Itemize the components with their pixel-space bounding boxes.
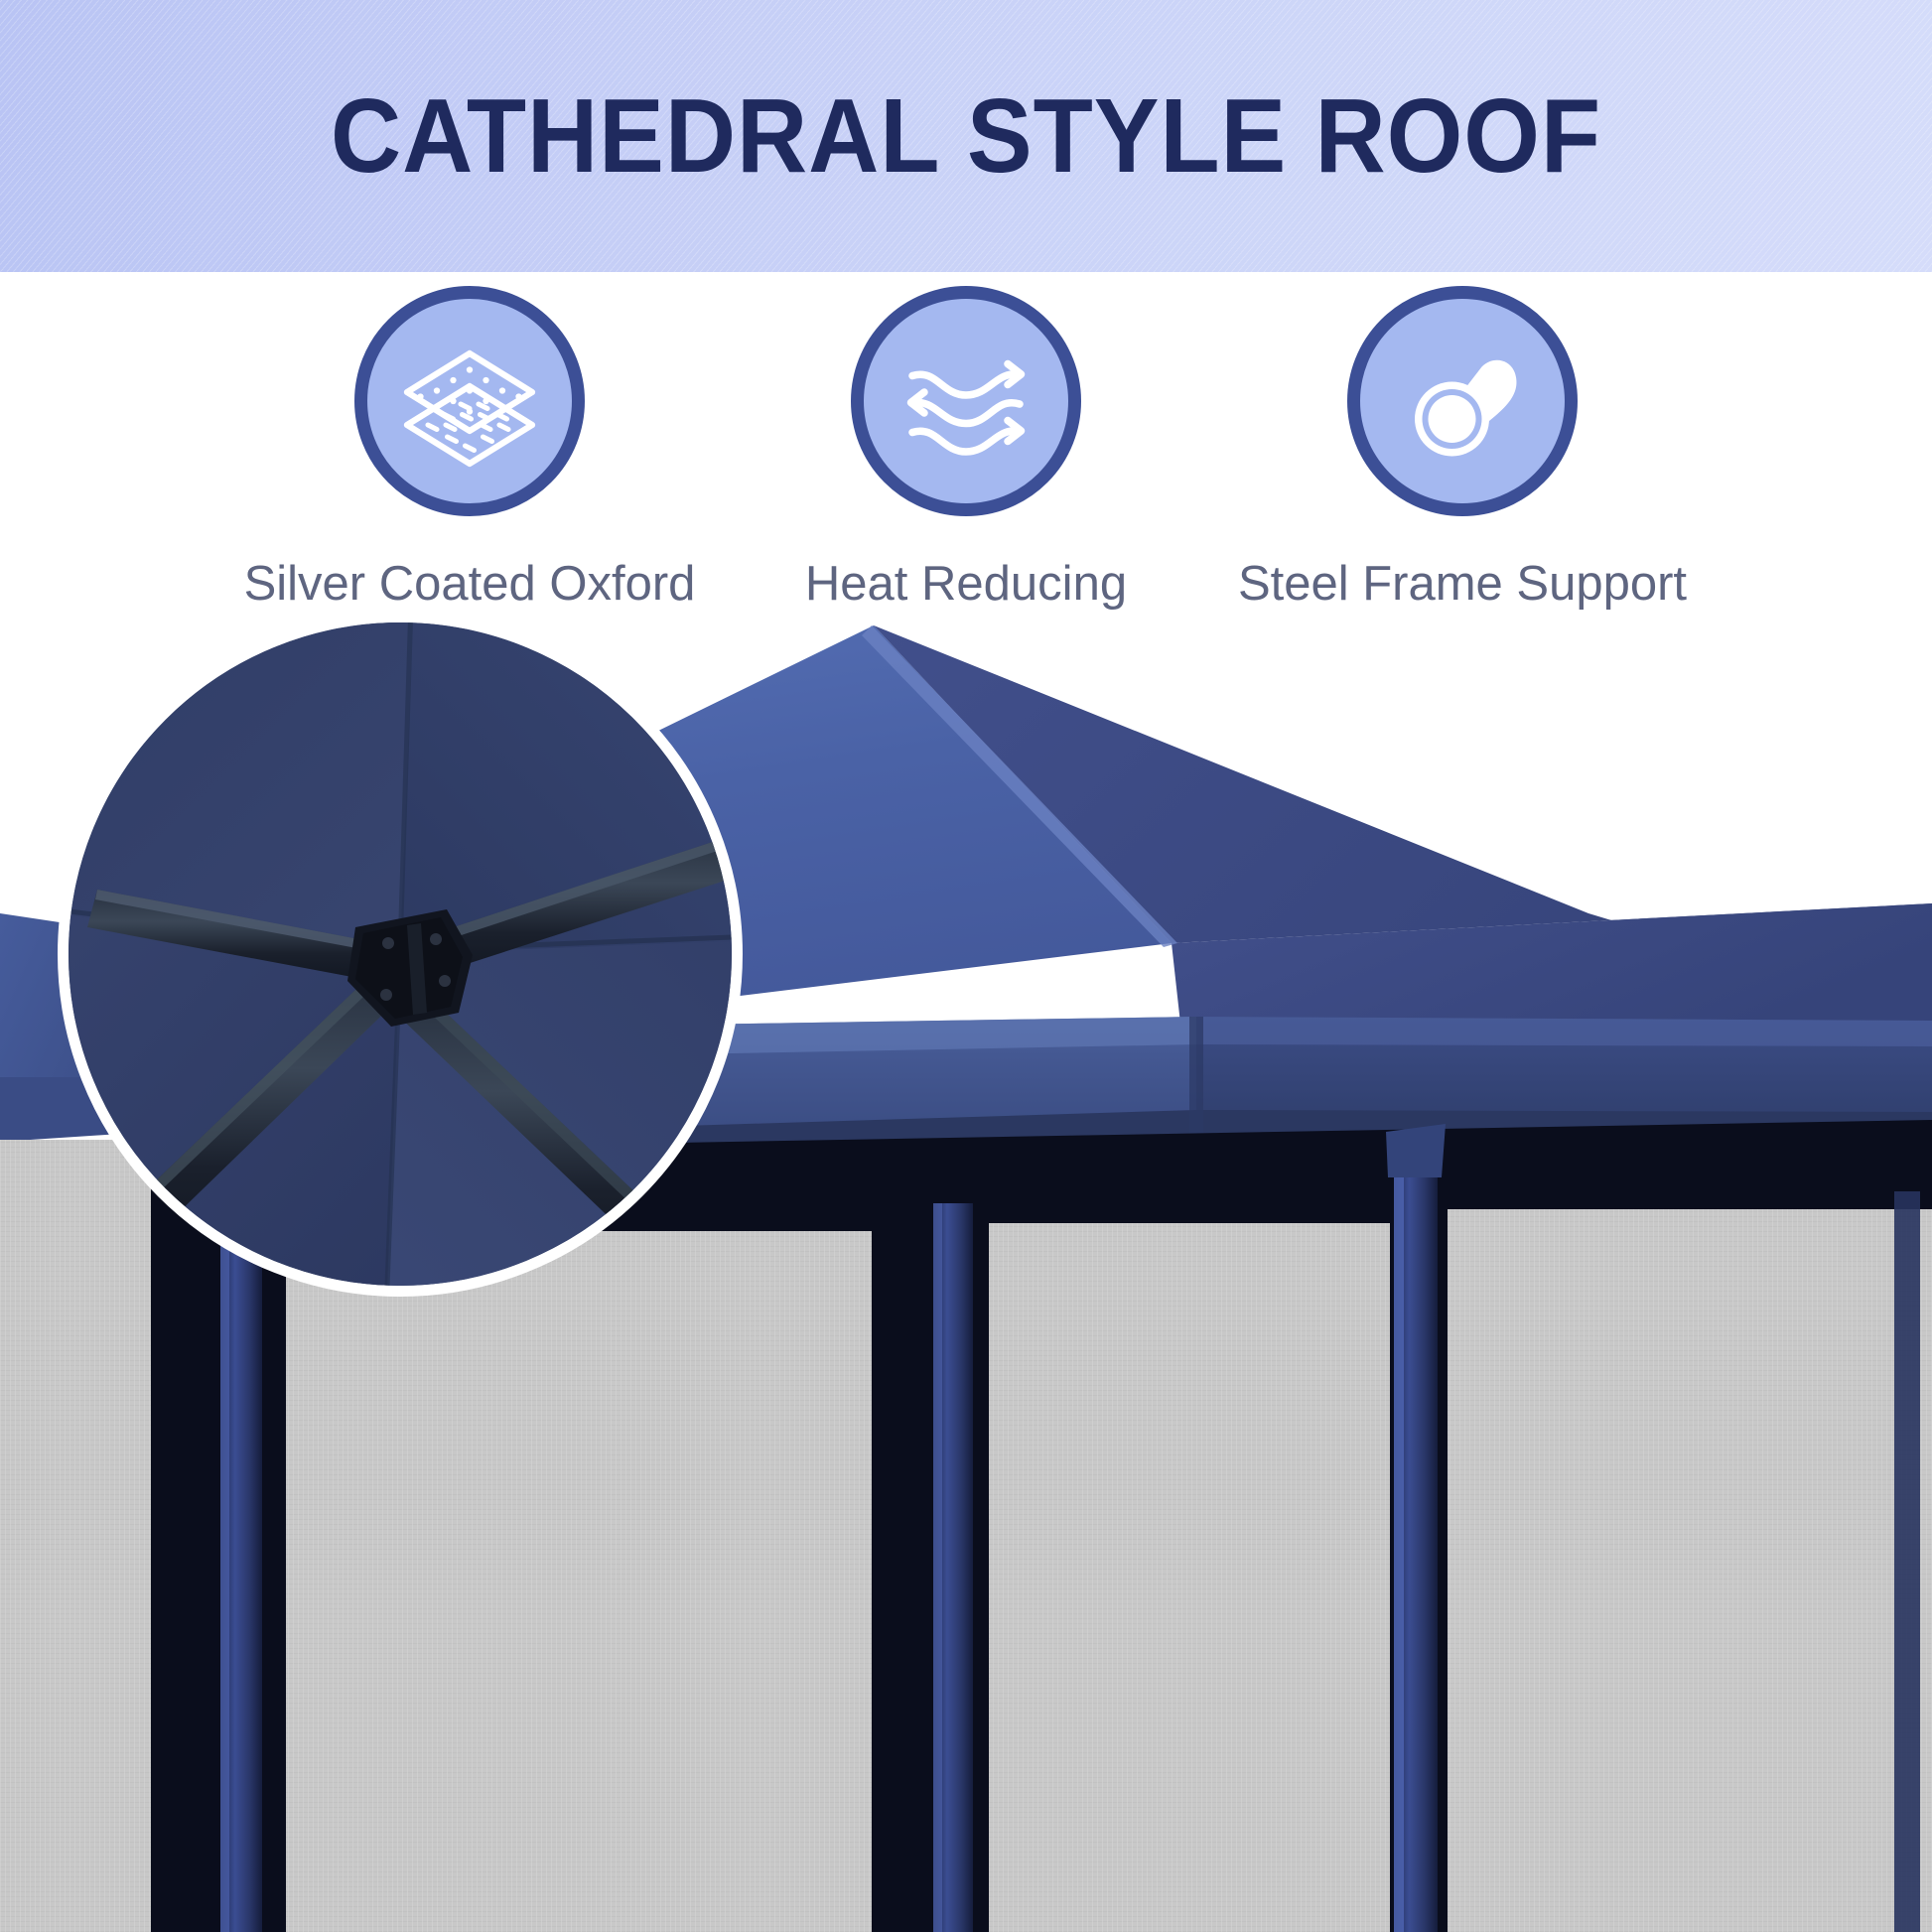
product-photo: [0, 616, 1932, 1932]
steel-tube-icon: [1388, 327, 1537, 476]
feature-label: Silver Coated Oxford: [244, 558, 696, 612]
feature-icon-circle: [851, 286, 1081, 516]
airflow-waves-icon: [892, 327, 1040, 476]
magnifier-inset-roof-frame-detail: [58, 616, 743, 1297]
product-feature-image: CATHEDRAL STYLE ROOF: [0, 0, 1932, 1932]
feature-label: Steel Frame Support: [1238, 558, 1687, 612]
feature-label: Heat Reducing: [805, 558, 1127, 612]
roof-underside-detail: [58, 616, 743, 1297]
feature-icon-circle: [354, 286, 585, 516]
feature-icon-circle: [1347, 286, 1578, 516]
feature-item-steel-frame-support: Steel Frame Support: [1214, 272, 1711, 612]
feature-item-heat-reducing: Heat Reducing: [718, 272, 1214, 612]
header-banner: CATHEDRAL STYLE ROOF: [0, 0, 1932, 272]
feature-item-silver-coated-oxford: Silver Coated Oxford: [221, 272, 718, 612]
layered-fabric-icon: [395, 327, 544, 476]
page-title: CATHEDRAL STYLE ROOF: [68, 0, 1864, 272]
